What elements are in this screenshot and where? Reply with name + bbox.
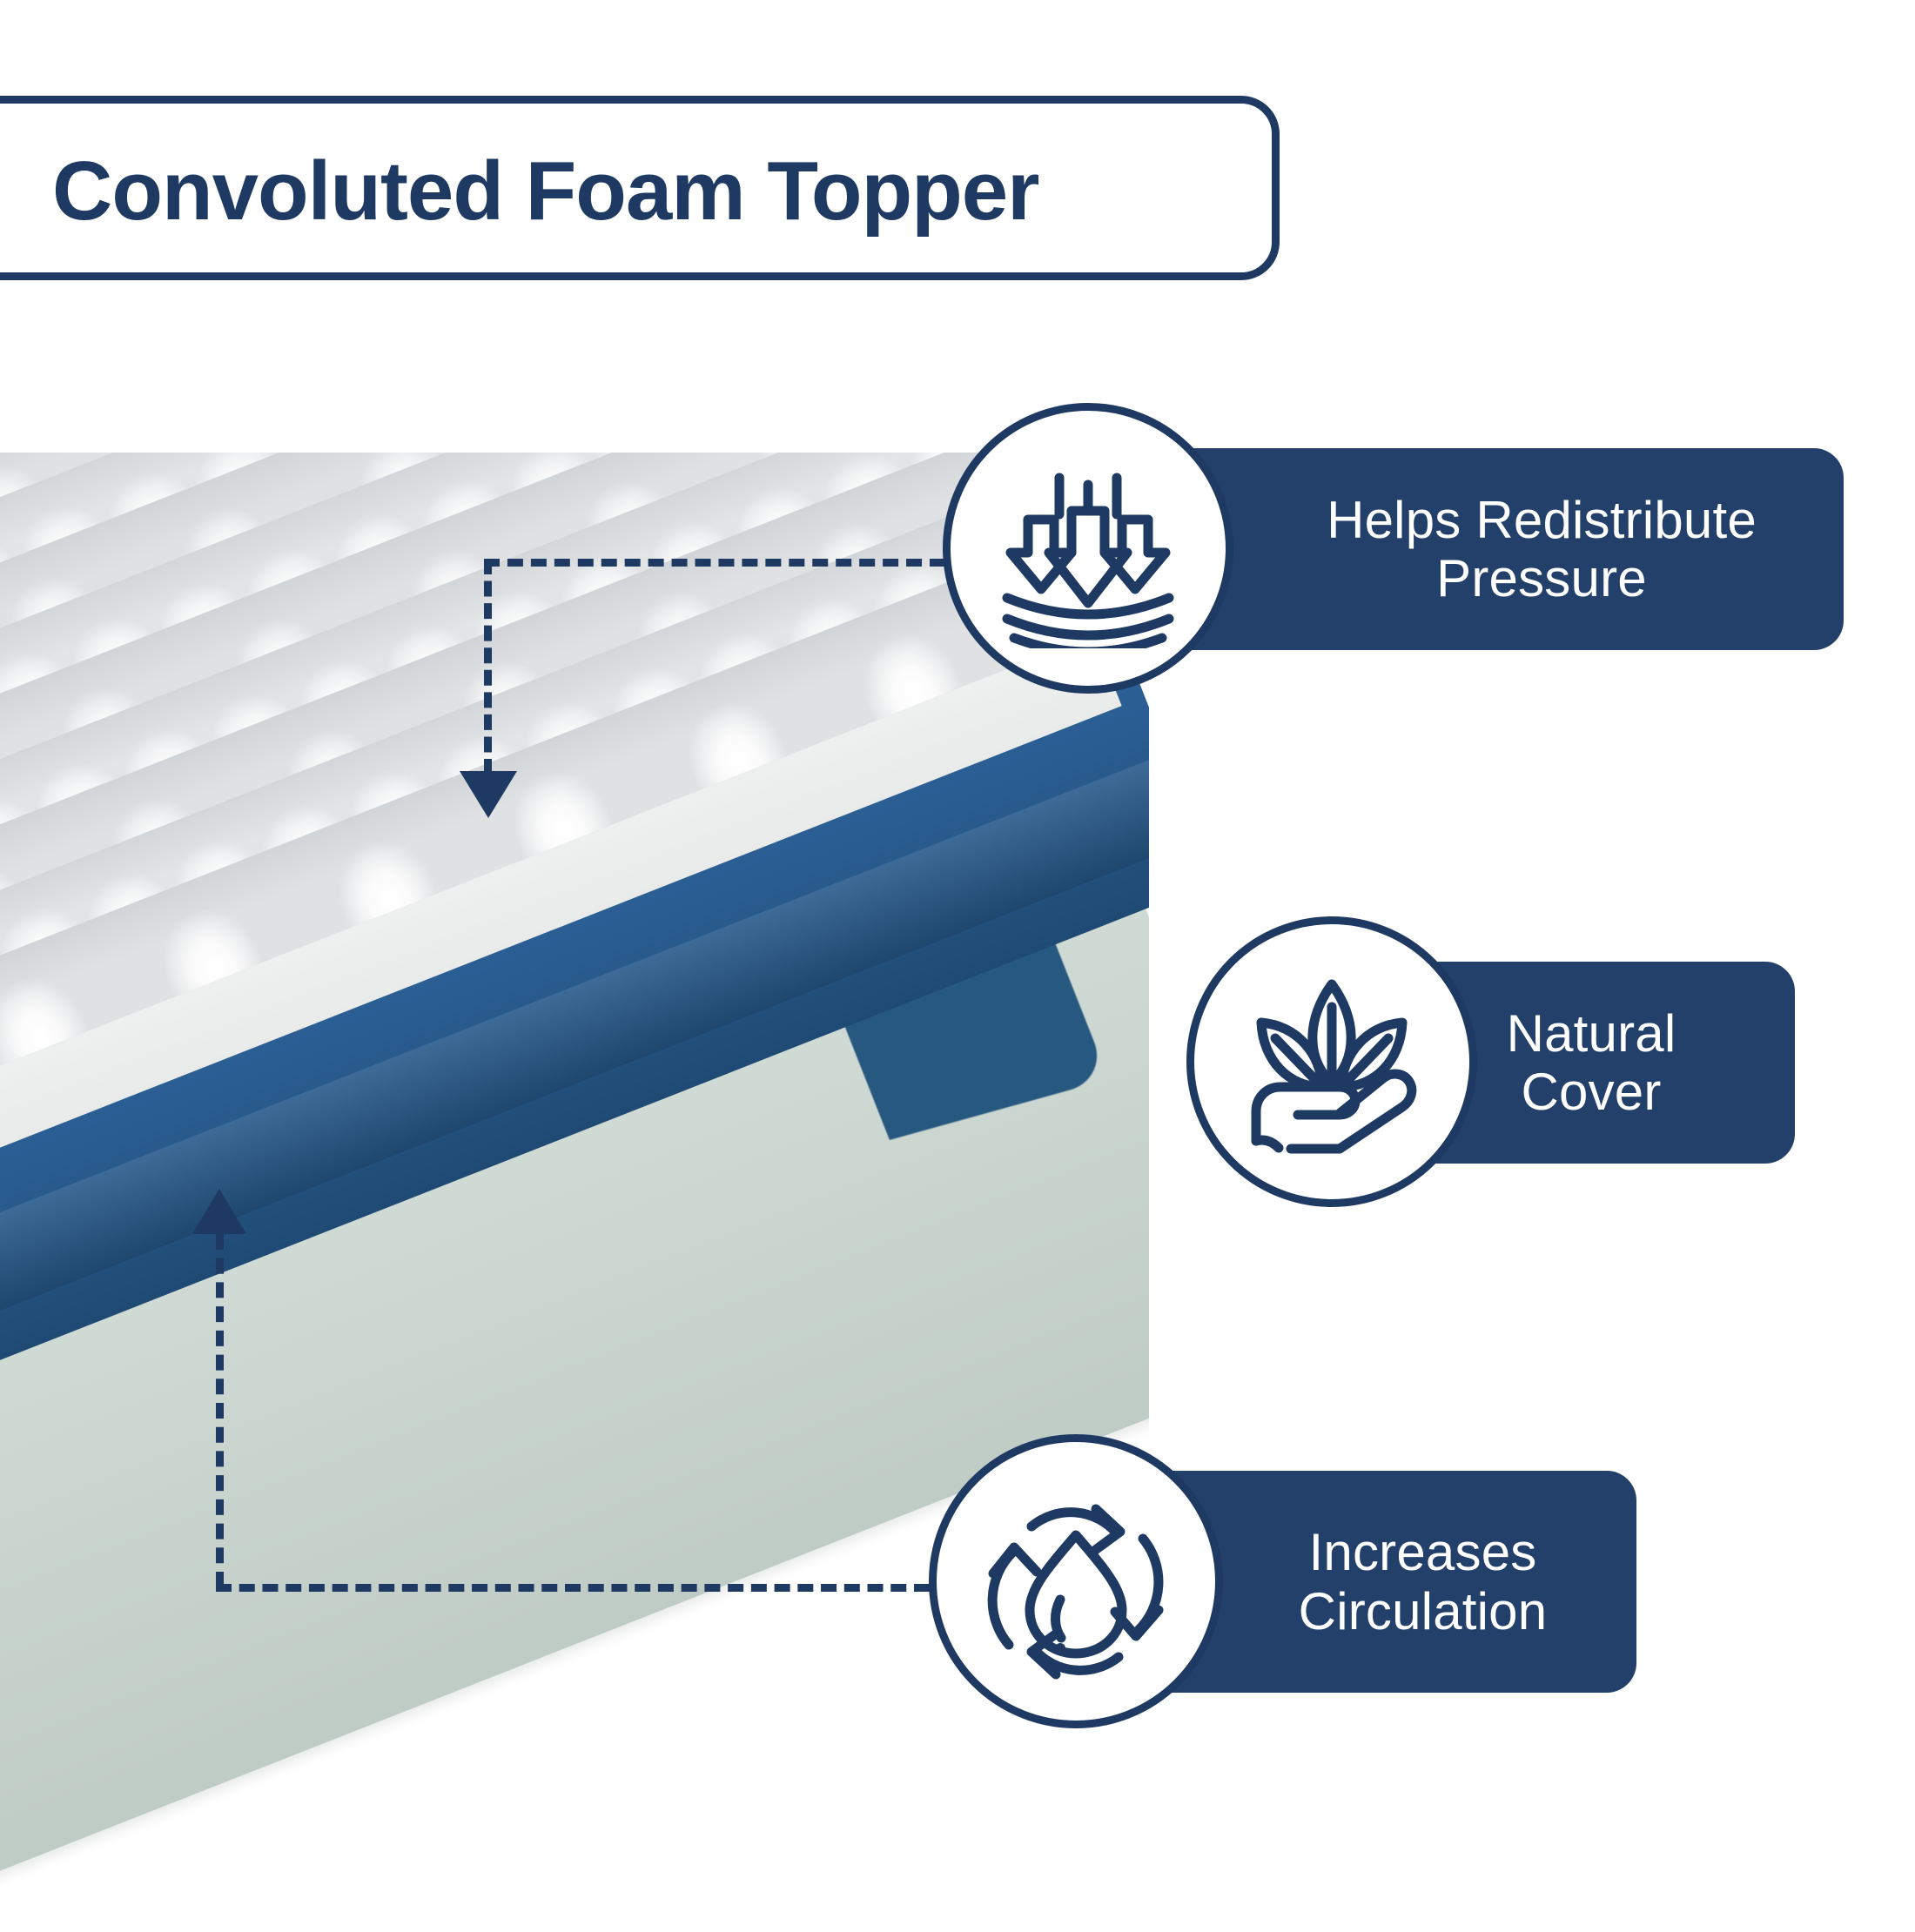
product-image [0,453,1149,1932]
callout-line-horizontal [216,1584,930,1592]
callout-line-vertical [216,1234,224,1587]
callout-line-horizontal [484,559,945,567]
infographic-canvas: Convoluted Foam Topper Helps Redistribut… [0,0,1915,1915]
page-title: Convoluted Foam Topper [52,131,1253,252]
callout-line-vertical [484,559,492,775]
feature-bubble-circulation[interactable] [929,1434,1223,1728]
feature-bubble-pressure[interactable] [943,403,1233,694]
pressure-arrows-icon [988,448,1188,648]
feature-bubble-natural-cover[interactable] [1186,916,1477,1207]
hand-leaves-icon [1230,960,1434,1164]
circulation-droplet-icon [972,1478,1179,1685]
callout-arrow-up-icon [192,1189,246,1234]
callout-arrow-down-icon [460,771,517,818]
